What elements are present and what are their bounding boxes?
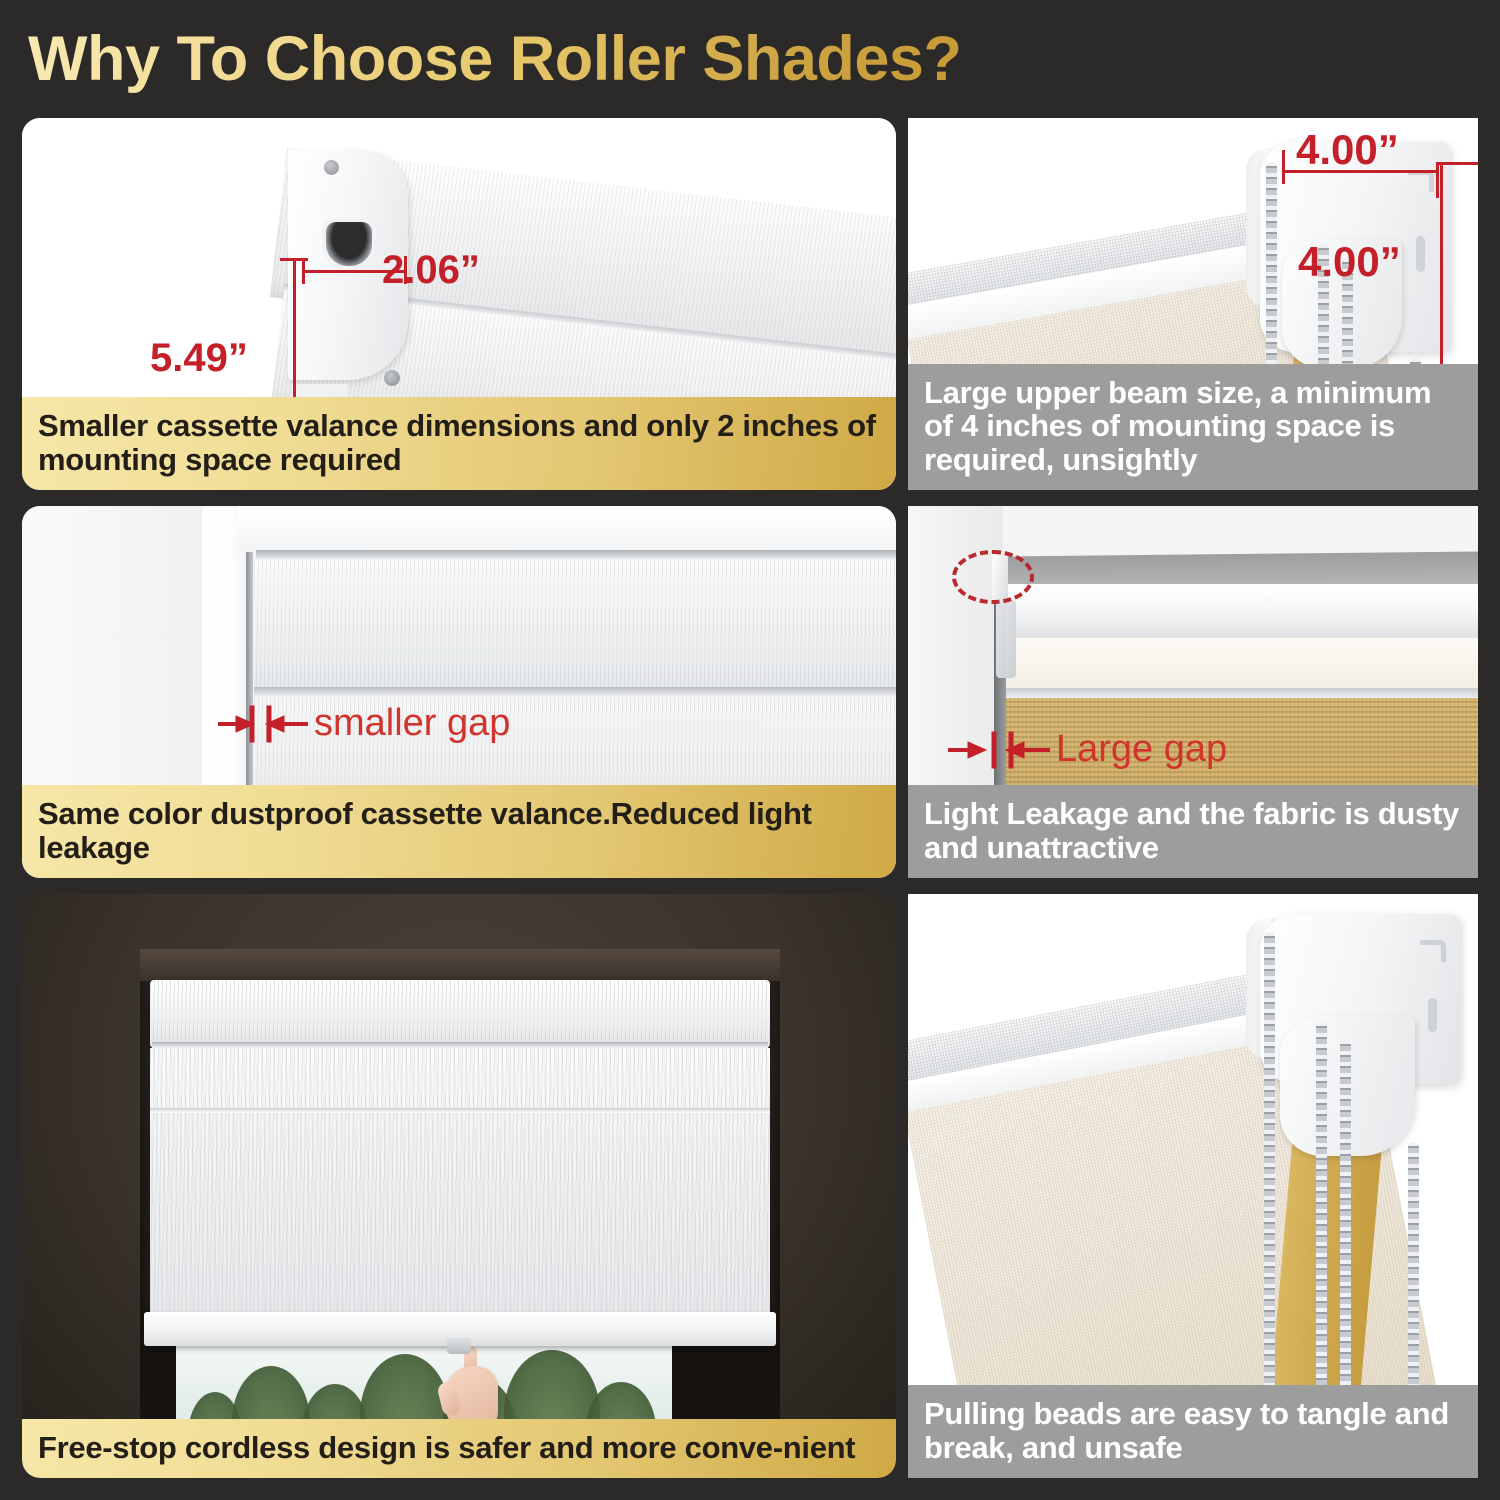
- bracket-slot-icon: [1416, 236, 1425, 272]
- beam-width-tick-left: [1282, 150, 1285, 184]
- page-header: Why To Choose Roller Shades?: [0, 0, 1500, 118]
- screw-icon: [324, 160, 339, 175]
- panel-caption-smaller-gap: Same color dustproof cassette valance.Re…: [22, 785, 896, 878]
- gap-label-smaller: smaller gap: [314, 702, 510, 745]
- shade-fold-line: [150, 1108, 770, 1113]
- shade-pull-tab: [447, 1338, 471, 1354]
- width-dimension-label: 2.06”: [382, 248, 480, 293]
- shade-fabric-upper: [254, 559, 896, 687]
- end-clip: [996, 600, 1016, 678]
- panel-smaller-gap: smaller gap Same color dustproof cassett…: [22, 506, 896, 878]
- panel-caption-large-gap: Light Leakage and the fabric is dusty an…: [908, 785, 1478, 878]
- panel-cordless-design: Free-stop cordless design is safer and m…: [22, 894, 896, 1478]
- shade-fabric: [150, 1048, 770, 1318]
- shade-white-band: [1000, 638, 1478, 690]
- panel-cassette-dimensions: 2.06” 5.49” Smaller cassette valance dim…: [22, 118, 896, 490]
- height-dimension-label: 5.49”: [150, 336, 248, 381]
- shade-mid-rail: [254, 687, 896, 697]
- panel-large-upper-beam: 4.00” 4.00” Large upper beam size, a min…: [908, 118, 1478, 490]
- window-reveal: [140, 949, 780, 981]
- screw-icon: [384, 370, 400, 386]
- panel-large-gap: Large gap Light Leakage and the fabric i…: [908, 506, 1478, 878]
- beam-height-tick-top: [1436, 162, 1478, 165]
- panel-caption-large-upper-beam: Large upper beam size, a minimum of 4 in…: [908, 364, 1478, 490]
- panel-pulling-beads: Pulling beads are easy to tangle and bre…: [908, 894, 1478, 1478]
- cassette-top-rail: [256, 550, 896, 559]
- panel-caption-cordless-design: Free-stop cordless design is safer and m…: [22, 1419, 896, 1478]
- bracket-notch-icon: [1408, 170, 1434, 192]
- valance-slot: [326, 222, 372, 266]
- panel-caption-cassette-dimensions: Smaller cassette valance dimensions and …: [22, 397, 896, 490]
- gap-label-large: Large gap: [1056, 728, 1227, 771]
- beam-width-tick-right: [1436, 162, 1439, 198]
- room-photo-cordless-shade: [22, 894, 896, 1478]
- width-dimension-tick-left: [302, 258, 305, 284]
- shade-hem-rail: [1000, 688, 1478, 698]
- panel-caption-pulling-beads: Pulling beads are easy to tangle and bre…: [908, 1385, 1478, 1478]
- bracket-notch-icon: [1420, 940, 1446, 962]
- shade-roller-tube: [1000, 584, 1478, 646]
- height-dimension-tick-top: [280, 258, 308, 261]
- window-header: [238, 506, 896, 554]
- bracket-slot-icon: [1428, 998, 1437, 1032]
- beam-width-label: 4.00”: [1296, 126, 1399, 174]
- cassette-valance: [150, 980, 770, 1048]
- highlight-circle: [952, 550, 1034, 604]
- page-title: Why To Choose Roller Shades?: [28, 23, 961, 95]
- beam-height-dimension-line: [1440, 162, 1443, 372]
- beam-height-label: 4.00”: [1298, 238, 1401, 286]
